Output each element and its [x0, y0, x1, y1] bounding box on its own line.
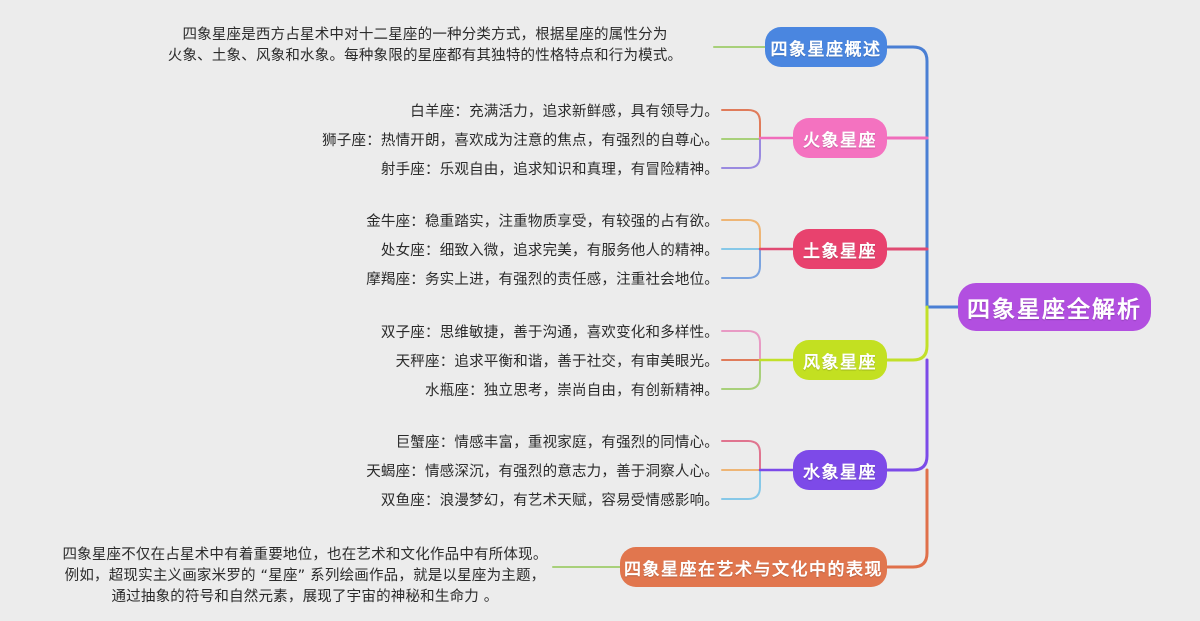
leaf-text-overview[interactable]: 四象星座是西方占星术中对十二星座的一种分类方式，根据星座的属性分为火象、土象、风… — [140, 25, 710, 67]
node-label: 四象星座概述 — [771, 35, 882, 60]
node-label: 水象星座 — [803, 458, 877, 483]
leaf-text-water-3[interactable]: 双鱼座：浪漫梦幻，有艺术天赋，容易受情感影响。 — [0, 489, 719, 510]
branch-node-water[interactable]: 水象星座 — [793, 450, 887, 490]
leaf-text-air-1[interactable]: 双子座：思维敏捷，善于沟通，喜欢变化和多样性。 — [0, 321, 719, 342]
leaf-text-air-3[interactable]: 水瓶座：独立思考，崇尚自由，有创新精神。 — [0, 379, 719, 400]
leaf-text-earth-3[interactable]: 摩羯座：务实上进，有强烈的责任感，注重社会地位。 — [0, 268, 719, 289]
node-label: 土象星座 — [803, 237, 877, 262]
leaf-text-water-1[interactable]: 巨蟹座：情感丰富，重视家庭，有强烈的同情心。 — [0, 431, 719, 452]
branch-node-fire[interactable]: 火象星座 — [793, 118, 887, 158]
root-node[interactable]: 四象星座全解析 — [958, 283, 1151, 331]
mindmap-canvas: 四象星座概述火象星座土象星座风象星座水象星座四象星座在艺术与文化中的表现四象星座… — [0, 0, 1200, 621]
leaf-text-water-2[interactable]: 天蝎座：情感深沉，有强烈的意志力，善于洞察人心。 — [0, 460, 719, 481]
culture-line-2: 例如，超现实主义画家米罗的 “星座” 系列绘画作品，就是以星座为主题， — [20, 566, 590, 587]
branch-node-overview[interactable]: 四象星座概述 — [765, 27, 887, 67]
leaf-text-fire-1[interactable]: 白羊座：充满活力，追求新鲜感，具有领导力。 — [0, 100, 719, 121]
node-label: 火象星座 — [803, 126, 877, 151]
branch-node-earth[interactable]: 土象星座 — [793, 229, 887, 269]
leaf-text-fire-2[interactable]: 狮子座：热情开朗，喜欢成为注意的焦点，有强烈的自尊心。 — [0, 129, 719, 150]
node-label: 风象星座 — [803, 348, 877, 373]
leaf-text-air-2[interactable]: 天秤座：追求平衡和谐，善于社交，有审美眼光。 — [0, 350, 719, 371]
leaf-text-culture[interactable]: 四象星座不仅在占星术中有着重要地位，也在艺术和文化作品中有所体现。例如，超现实主… — [20, 545, 590, 608]
node-label: 四象星座全解析 — [967, 290, 1142, 324]
overview-line-1: 四象星座是西方占星术中对十二星座的一种分类方式，根据星座的属性分为 — [140, 25, 710, 46]
branch-node-air[interactable]: 风象星座 — [793, 340, 887, 380]
node-label: 四象星座在艺术与文化中的表现 — [624, 555, 883, 580]
overview-line-2: 火象、土象、风象和水象。每种象限的星座都有其独特的性格特点和行为模式。 — [140, 46, 710, 67]
leaf-text-earth-2[interactable]: 处女座：细致入微，追求完美，有服务他人的精神。 — [0, 239, 719, 260]
culture-line-1: 四象星座不仅在占星术中有着重要地位，也在艺术和文化作品中有所体现。 — [20, 545, 590, 566]
leaf-text-earth-1[interactable]: 金牛座：稳重踏实，注重物质享受，有较强的占有欲。 — [0, 210, 719, 231]
leaf-text-fire-3[interactable]: 射手座：乐观自由，追求知识和真理，有冒险精神。 — [0, 158, 719, 179]
branch-node-culture[interactable]: 四象星座在艺术与文化中的表现 — [620, 547, 887, 587]
culture-line-3: 通过抽象的符号和自然元素，展现了宇宙的神秘和生命力 。 — [20, 587, 590, 608]
